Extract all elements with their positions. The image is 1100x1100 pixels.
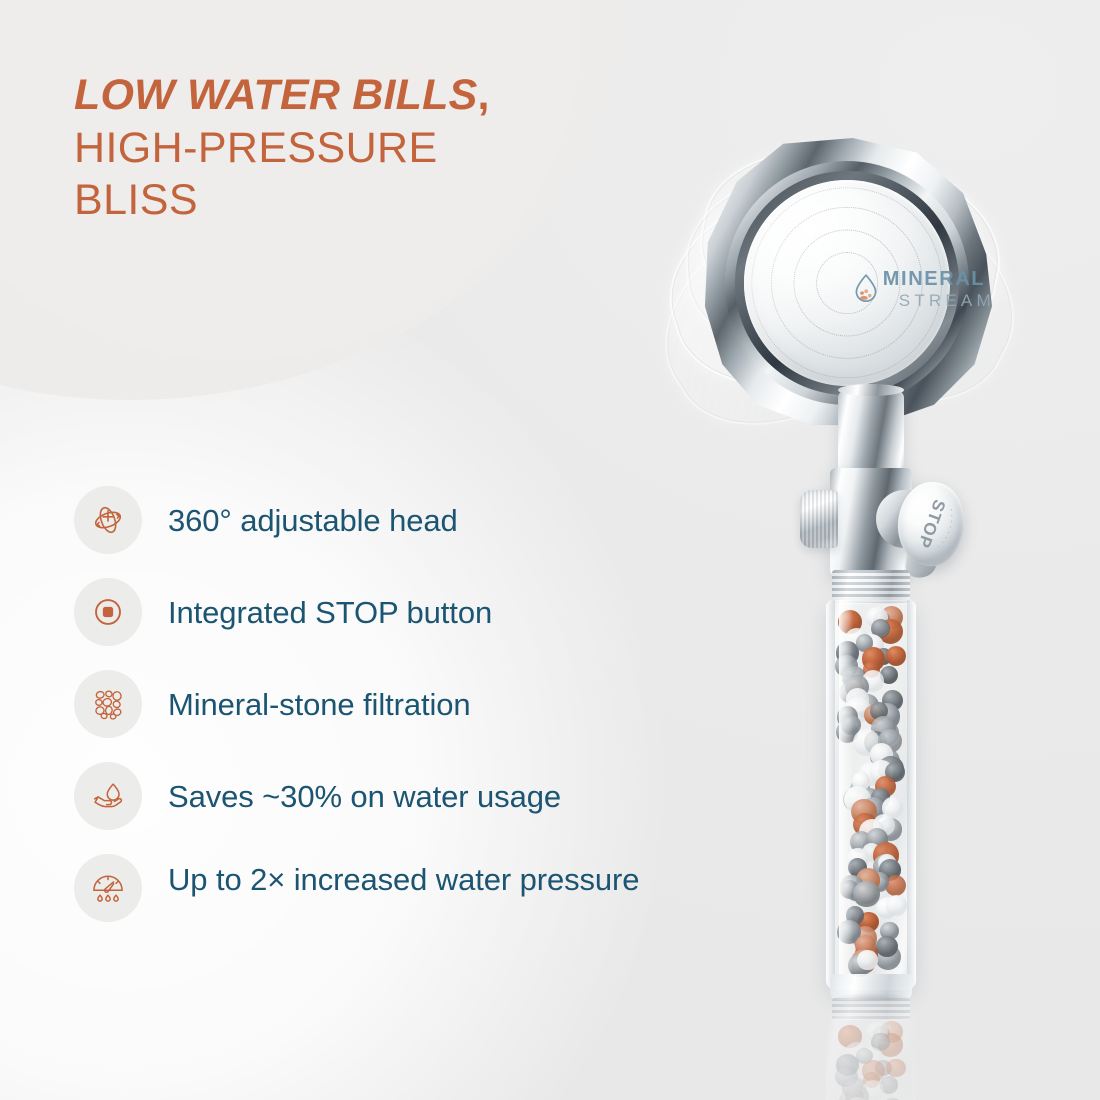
hand-water-drop-icon: [89, 777, 127, 815]
mineral-filter-cartridge: [826, 600, 916, 990]
feature-label: 360° adjustable head: [168, 490, 458, 539]
mineral-stones-icon: [90, 686, 127, 723]
mineral-bead: [886, 646, 906, 666]
shower-head-assembly: MINERAL STREAM: [702, 138, 992, 428]
mineral-bead-reflection: [886, 1059, 906, 1078]
headline-line-1-text: LOW WATER BILLS: [74, 71, 477, 119]
mineral-bead: [857, 950, 877, 970]
brand-logo: MINERAL STREAM: [853, 269, 995, 309]
headline-line-1: LOW WATER BILLS,: [74, 72, 594, 118]
headline-comma: ,: [477, 71, 489, 119]
feature-icon-badge: [74, 854, 142, 922]
poster-canvas: LOW WATER BILLS, HIGH-PRESSURE BLISS 360…: [0, 0, 1100, 1100]
reflection-cartridge: [826, 1016, 916, 1100]
feature-list: 360° adjustable head Integrated STOP but…: [74, 490, 724, 926]
feature-icon-badge: [74, 486, 142, 554]
brand-name-secondary: STREAM: [899, 292, 995, 309]
headline-block: LOW WATER BILLS, HIGH-PRESSURE BLISS: [74, 72, 594, 227]
knurled-nub: [800, 490, 838, 548]
cartridge-gloss-highlight: [839, 600, 853, 990]
feature-icon-badge: [74, 670, 142, 738]
cartridge-thread-joint: [832, 570, 910, 604]
mineral-bead: [886, 895, 907, 916]
reflection-bead-fill: [826, 1016, 916, 1100]
headline-line-2: HIGH-PRESSURE: [74, 122, 594, 174]
brand-name-primary: MINERAL: [883, 269, 995, 289]
feature-label: Saves ~30% on water usage: [168, 766, 561, 815]
product-image-shower-head: MINERAL STREAM STOP: [640, 90, 1100, 1100]
feature-row-stop-button: Integrated STOP button: [74, 582, 724, 650]
water-drop-stones-icon: [853, 273, 879, 308]
feature-label: Integrated STOP button: [168, 582, 492, 631]
headline-line-3: BLISS: [74, 174, 594, 226]
feature-icon-badge: [74, 762, 142, 830]
stop-button-icon: [89, 593, 127, 631]
feature-row-adjustable-head: 360° adjustable head: [74, 490, 724, 558]
feature-row-water-pressure: Up to 2× increased water pressure: [74, 858, 724, 926]
rotate-360-icon: [89, 501, 127, 539]
mineral-bead: [876, 936, 897, 957]
pressure-gauge-icon: [89, 869, 127, 907]
mineral-bead: [853, 881, 880, 908]
feature-icon-badge: [74, 578, 142, 646]
feature-row-mineral-filtration: Mineral-stone filtration: [74, 674, 724, 742]
feature-label: Mineral-stone filtration: [168, 674, 471, 723]
product-reflection: [640, 998, 1100, 1100]
feature-row-water-savings: Saves ~30% on water usage: [74, 766, 724, 834]
feature-label: Up to 2× increased water pressure: [168, 858, 639, 898]
swivel-neck: [838, 390, 904, 476]
brand-wordmark: MINERAL STREAM: [883, 269, 995, 309]
